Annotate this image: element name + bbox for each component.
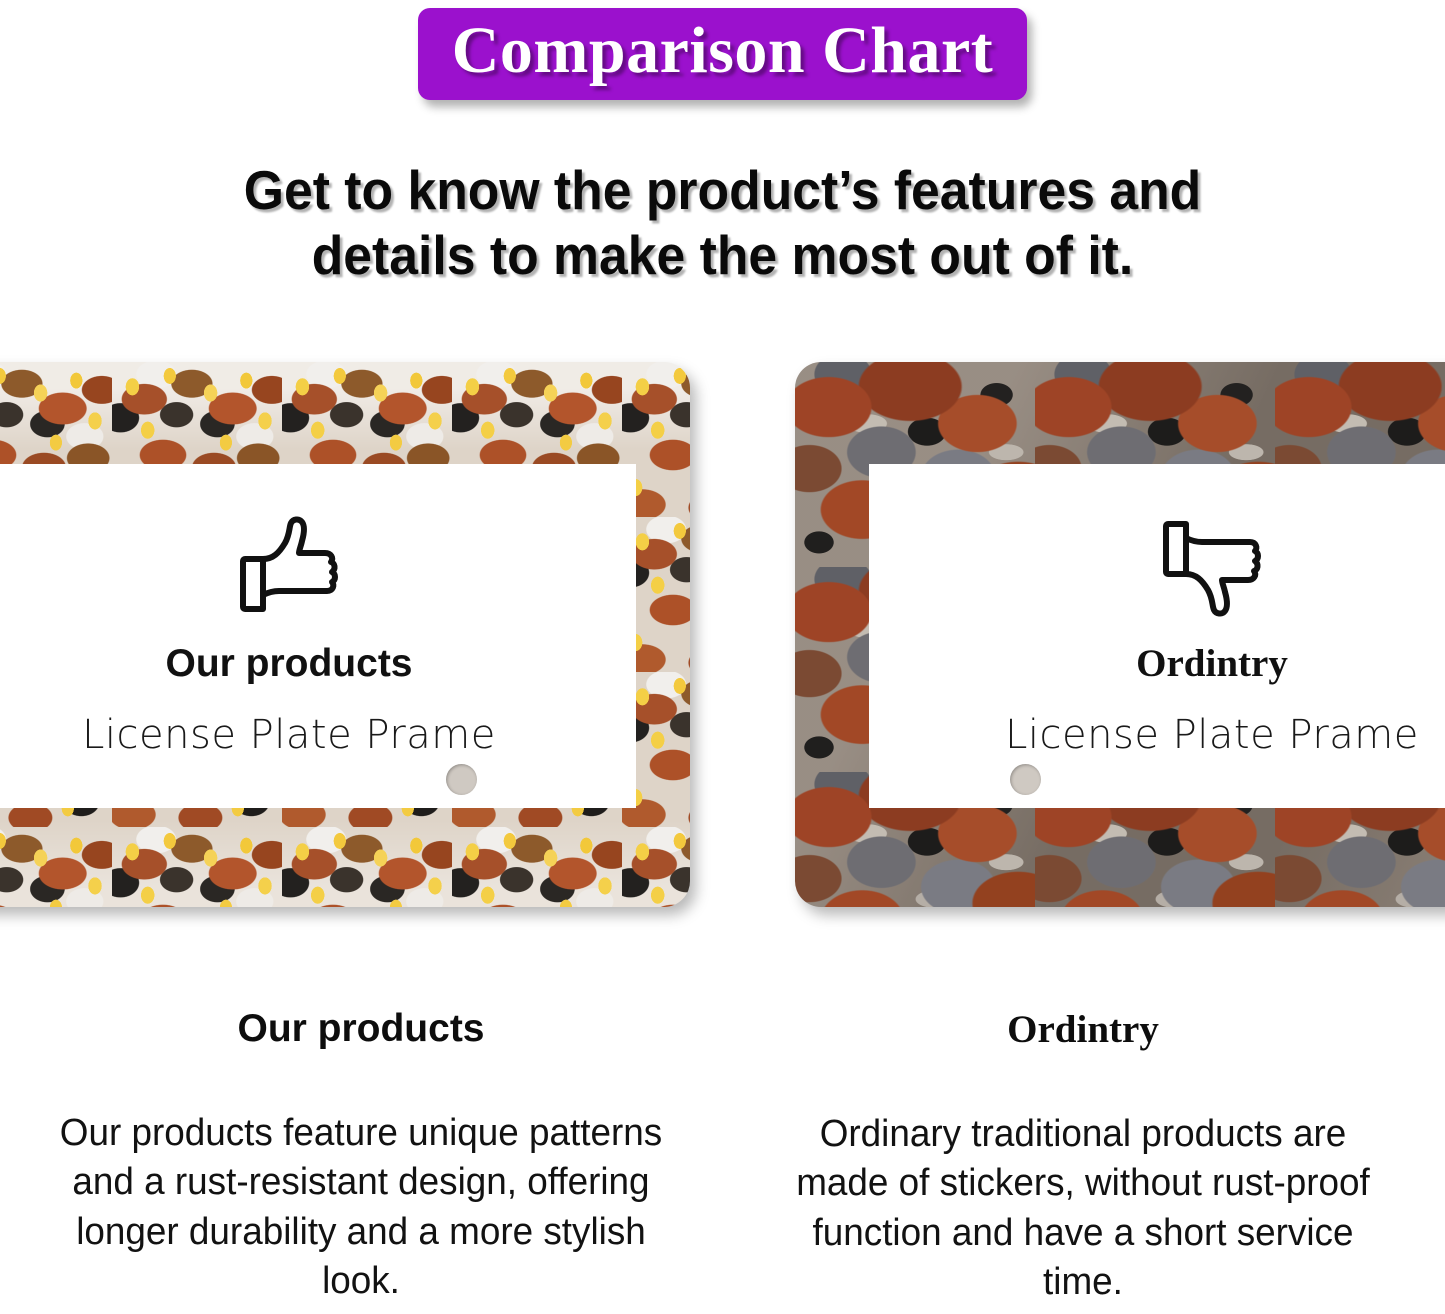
- ordinary-product-description-column: Ordintry Ordinary traditional products a…: [722, 995, 1444, 1314]
- mounting-hole-icon: [446, 764, 477, 795]
- comparison-description-row: Our products Our products feature unique…: [0, 995, 1445, 1314]
- title-banner: Comparison Chart: [418, 8, 1028, 100]
- our-product-description-column: Our products Our products feature unique…: [0, 995, 722, 1314]
- ordinary-product-description-body: Ordinary traditional products are made o…: [774, 1110, 1393, 1308]
- subtitle-line-1: Get to know the product’s features and: [43, 158, 1401, 223]
- title-banner-wrapper: Comparison Chart: [0, 8, 1445, 100]
- ordinary-product-description-title: Ordintry: [764, 1007, 1402, 1052]
- page-title: Comparison Chart: [452, 14, 994, 88]
- ordinary-product-plate-window: [869, 464, 1445, 808]
- our-product-plate-window: [0, 464, 636, 808]
- our-product-description-body: Our products feature unique patterns and…: [52, 1109, 671, 1307]
- product-comparison-row: Our products License Plate Prame Ordintr…: [0, 352, 1445, 920]
- our-product-description-title: Our products: [42, 1007, 680, 1051]
- mounting-hole-icon: [1010, 764, 1041, 795]
- subtitle-line-2: details to make the most out of it.: [43, 223, 1401, 288]
- page-subtitle: Get to know the product’s features and d…: [43, 158, 1401, 288]
